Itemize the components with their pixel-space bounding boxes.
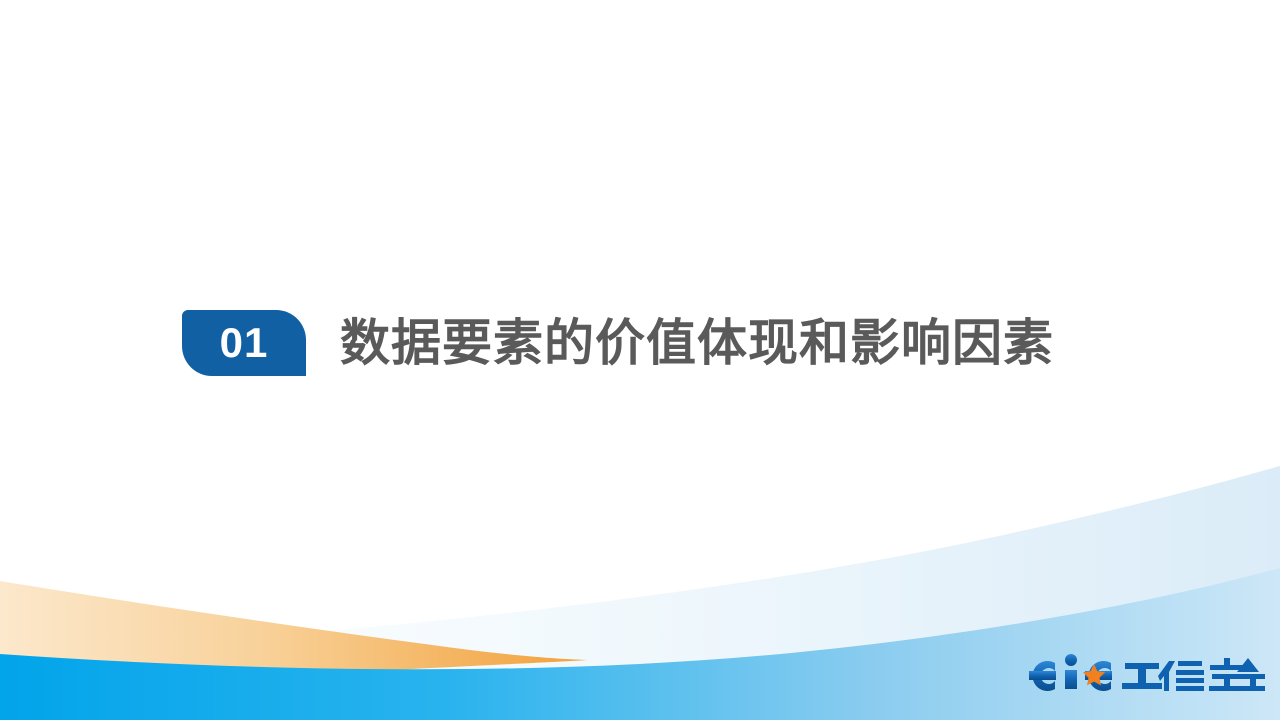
logo-cjk-gong bbox=[1122, 663, 1162, 689]
orange-wave-shape bbox=[0, 581, 588, 701]
logo-artwork bbox=[1019, 648, 1265, 700]
section-number-text: 01 bbox=[220, 322, 269, 364]
section-title: 数据要素的价值体现和影响因素 bbox=[340, 318, 1054, 368]
slide-canvas: 01 数据要素的价值体现和影响因素 bbox=[0, 0, 1280, 720]
logo-letter-i-stem bbox=[1065, 670, 1077, 689]
section-heading: 01 数据要素的价值体现和影响因素 bbox=[182, 284, 1054, 401]
logo-letter-i-dot bbox=[1065, 654, 1077, 666]
logo-letter-c1-bar bbox=[1029, 671, 1056, 680]
company-logo bbox=[1019, 648, 1265, 700]
section-number-badge: 01 bbox=[182, 310, 306, 376]
logo-cjk-quan bbox=[1236, 658, 1265, 691]
logo-cjk-xin bbox=[1158, 661, 1204, 691]
